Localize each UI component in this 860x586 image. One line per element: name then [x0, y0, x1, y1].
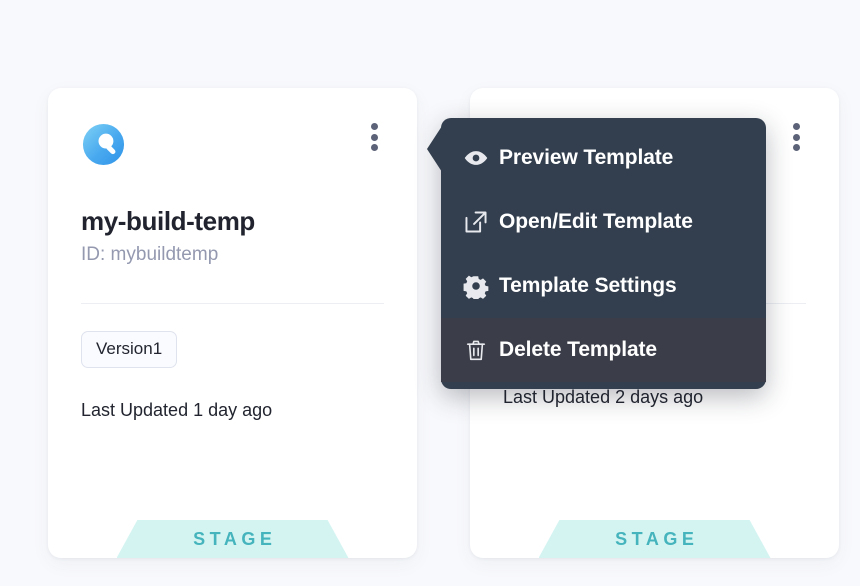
kebab-dot [371, 144, 378, 151]
menu-item-delete-template[interactable]: Delete Template [441, 318, 766, 382]
version-chip[interactable]: Version1 [81, 331, 177, 369]
last-updated-label: Last Updated [81, 400, 188, 420]
menu-item-label: Preview Template [499, 146, 673, 170]
last-updated-value: 2 days ago [615, 387, 703, 407]
kebab-dot [793, 144, 800, 151]
template-context-menu[interactable]: Preview Template Open/Edit Template Temp… [441, 118, 766, 389]
gear-icon [463, 273, 497, 299]
kebab-dot [371, 134, 378, 141]
last-updated-value: 1 day ago [193, 400, 272, 420]
kebab-dot [793, 134, 800, 141]
card-body: my-build-temp ID: mybuildtemp Version1 L… [48, 88, 417, 558]
menu-item-template-settings[interactable]: Template Settings [441, 254, 766, 318]
card-id: ID: mybuildtemp [81, 244, 384, 267]
menu-item-preview-template[interactable]: Preview Template [441, 126, 766, 190]
menu-item-label: Open/Edit Template [499, 210, 693, 234]
last-updated-row: Last Updated2 days ago [503, 387, 806, 408]
last-updated-row: Last Updated1 day ago [81, 400, 384, 421]
last-updated-label: Last Updated [503, 387, 610, 407]
external-link-icon [463, 209, 497, 235]
kebab-dot [793, 123, 800, 130]
app-root: my-build-temp ID: mybuildtemp Version1 L… [0, 0, 860, 586]
kebab-dot [371, 123, 378, 130]
menu-item-label: Template Settings [499, 274, 677, 298]
card-more-options-button[interactable] [363, 120, 385, 154]
menu-item-open-edit-template[interactable]: Open/Edit Template [441, 190, 766, 254]
template-card[interactable]: my-build-temp ID: mybuildtemp Version1 L… [48, 88, 417, 558]
card-more-options-button[interactable] [785, 120, 807, 154]
context-menu-arrow [427, 126, 442, 172]
trash-icon [463, 337, 497, 363]
card-title: my-build-temp [81, 207, 384, 237]
menu-item-label: Delete Template [499, 338, 657, 362]
eye-icon [463, 145, 497, 171]
card-divider [81, 303, 384, 304]
magnifier-badge-icon [81, 122, 126, 167]
